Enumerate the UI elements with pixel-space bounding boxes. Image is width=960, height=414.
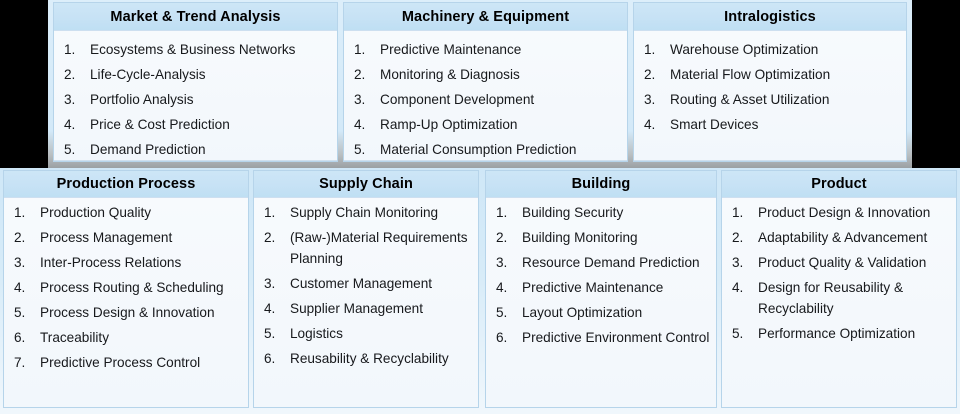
list-item-label: Ecosystems & Business Networks [90,37,333,62]
category-card-product[interactable]: Product 1.Product Design & Innovation 2.… [721,170,957,408]
category-card-machinery-equipment[interactable]: Machinery & Equipment 1.Predictive Maint… [343,2,628,162]
list-item-label: Production Quality [40,203,244,224]
list-item-label: Price & Cost Prediction [90,112,333,137]
category-item-list: 1.Supply Chain Monitoring 2.(Raw-)Materi… [258,203,474,374]
category-item-list: 1.Predictive Maintenance 2.Monitoring & … [348,37,623,162]
list-item-number: 3. [638,87,670,112]
list-item-number: 2. [258,228,290,249]
list-item-number: 1. [258,203,290,224]
diagram-canvas: Market & Trend Analysis 1.Ecosystems & B… [0,0,960,414]
list-item[interactable]: 5.Logistics [258,324,474,349]
list-item-label: Portfolio Analysis [90,87,333,112]
category-header: Supply Chain [254,171,478,198]
list-item-number: 2. [638,62,670,87]
category-header: Machinery & Equipment [344,3,627,31]
list-item-label: Process Routing & Scheduling [40,278,244,299]
list-item[interactable]: 3.Routing & Asset Utilization [638,87,902,112]
list-item[interactable]: 4.Smart Devices [638,112,902,137]
list-item-number: 4. [348,112,380,137]
list-item[interactable]: 4.Supplier Management [258,299,474,324]
list-item-number: 3. [348,87,380,112]
category-card-building[interactable]: Building 1.Building Security 2.Building … [485,170,717,408]
list-item[interactable]: 4.Price & Cost Prediction [58,112,333,137]
list-item-label: Reusability & Recyclability [290,349,474,370]
list-item-label: Adaptability & Advancement [758,228,952,249]
list-item-label: Supplier Management [290,299,474,320]
list-item-label: Process Management [40,228,244,249]
top-row-band: Market & Trend Analysis 1.Ecosystems & B… [48,0,912,168]
list-item-number: 2. [58,62,90,87]
list-item[interactable]: 2.(Raw-)Material Requirements Planning [258,228,474,274]
category-body: 1.Product Design & Innovation 2.Adaptabi… [722,198,956,407]
list-item-number: 1. [58,37,90,62]
list-item-label: Product Quality & Validation [758,253,952,274]
list-item-label: Layout Optimization [522,303,712,324]
list-item-label: Predictive Maintenance [522,278,712,299]
list-item-number: 5. [258,324,290,345]
list-item[interactable]: 3.Portfolio Analysis [58,87,333,112]
category-item-list: 1.Ecosystems & Business Networks 2.Life-… [58,37,333,162]
list-item-label: Resource Demand Prediction [522,253,712,274]
list-item-label: Ramp-Up Optimization [380,112,623,137]
list-item-label: Material Consumption Prediction [380,137,623,162]
list-item-label: Building Monitoring [522,228,712,249]
list-item-label: Process Design & Innovation [40,303,244,324]
list-item[interactable]: 1.Building Security [490,203,712,228]
list-item-label: Logistics [290,324,474,345]
category-item-list: 1.Warehouse Optimization 2.Material Flow… [638,37,902,137]
list-item[interactable]: 3.Resource Demand Prediction [490,253,712,278]
category-header: Intralogistics [634,3,906,31]
list-item-number: 3. [490,253,522,274]
list-item-label: Monitoring & Diagnosis [380,62,623,87]
list-item[interactable]: 1.Warehouse Optimization [638,37,902,62]
list-item[interactable]: 2.Life-Cycle-Analysis [58,62,333,87]
list-item-label: Product Design & Innovation [758,203,952,224]
list-item-number: 5. [58,137,90,162]
category-body: 1.Warehouse Optimization 2.Material Flow… [634,31,906,161]
category-header: Market & Trend Analysis [54,3,337,31]
list-item-number: 3. [726,253,758,274]
list-item[interactable]: 5.Demand Prediction [58,137,333,162]
category-card-production-process[interactable]: Production Process 1.Production Quality … [3,170,249,408]
list-item[interactable]: 4.Ramp-Up Optimization [348,112,623,137]
list-item-label: Inter-Process Relations [40,253,244,274]
list-item-number: 2. [490,228,522,249]
list-item[interactable]: 2.Monitoring & Diagnosis [348,62,623,87]
list-item[interactable]: 1.Supply Chain Monitoring [258,203,474,228]
category-item-list: 1.Production Quality 2.Process Managemen… [8,203,244,378]
list-item-number: 5. [726,324,758,345]
list-item-number: 6. [258,349,290,370]
list-item[interactable]: 2.Adaptability & Advancement [726,228,952,253]
list-item-number: 3. [258,274,290,295]
list-item-label: Warehouse Optimization [670,37,902,62]
list-item[interactable]: 4.Process Routing & Scheduling [8,278,244,303]
list-item[interactable]: 5.Process Design & Innovation [8,303,244,328]
list-item-number: 7. [8,353,40,374]
list-item-label: Component Development [380,87,623,112]
list-item[interactable]: 2.Process Management [8,228,244,253]
list-item[interactable]: 1.Ecosystems & Business Networks [58,37,333,62]
list-item-number: 5. [348,137,380,162]
list-item[interactable]: 2.Material Flow Optimization [638,62,902,87]
list-item-number: 6. [490,328,522,349]
category-header: Product [722,171,956,198]
list-item-label: (Raw-)Material Requirements Planning [290,228,474,269]
category-body: 1.Predictive Maintenance 2.Monitoring & … [344,31,627,162]
list-item[interactable]: 7.Predictive Process Control [8,353,244,378]
list-item[interactable]: 4.Predictive Maintenance [490,278,712,303]
category-body: 1.Building Security 2.Building Monitorin… [486,198,716,407]
list-item-number: 2. [348,62,380,87]
list-item-label: Customer Management [290,274,474,295]
list-item[interactable]: 4.Design for Reusability & Recyclability [726,278,952,324]
bottom-row-band: Production Process 1.Production Quality … [0,168,960,414]
list-item-number: 1. [8,203,40,224]
list-item[interactable]: 1.Predictive Maintenance [348,37,623,62]
category-header: Production Process [4,171,248,198]
list-item-number: 5. [8,303,40,324]
list-item-label: Predictive Maintenance [380,37,623,62]
list-item-number: 6. [8,328,40,349]
category-body: 1.Supply Chain Monitoring 2.(Raw-)Materi… [254,198,478,407]
category-body: 1.Production Quality 2.Process Managemen… [4,198,248,407]
list-item-label: Demand Prediction [90,137,333,162]
list-item-number: 4. [258,299,290,320]
list-item-label: Life-Cycle-Analysis [90,62,333,87]
list-item[interactable]: 3.Customer Management [258,274,474,299]
list-item-label: Design for Reusability & Recyclability [758,278,952,319]
list-item[interactable]: 5.Layout Optimization [490,303,712,328]
list-item-label: Supply Chain Monitoring [290,203,474,224]
list-item-number: 4. [638,112,670,137]
category-item-list: 1.Product Design & Innovation 2.Adaptabi… [726,203,952,349]
list-item[interactable]: 6.Predictive Environment Control [490,328,712,353]
list-item[interactable]: 5.Material Consumption Prediction [348,137,623,162]
list-item-label: Predictive Environment Control [522,328,712,349]
list-item-label: Building Security [522,203,712,224]
list-item-number: 1. [638,37,670,62]
list-item[interactable]: 6.Traceability [8,328,244,353]
list-item[interactable]: 1.Production Quality [8,203,244,228]
list-item-number: 4. [8,278,40,299]
list-item-number: 3. [58,87,90,112]
list-item-number: 3. [8,253,40,274]
list-item-number: 1. [348,37,380,62]
list-item[interactable]: 2.Building Monitoring [490,228,712,253]
list-item-label: Smart Devices [670,112,902,137]
list-item-label: Predictive Process Control [40,353,244,374]
list-item-label: Material Flow Optimization [670,62,902,87]
list-item-number: 4. [726,278,758,299]
category-header: Building [486,171,716,198]
list-item[interactable]: 3.Product Quality & Validation [726,253,952,278]
list-item-label: Traceability [40,328,244,349]
list-item-number: 4. [490,278,522,299]
list-item-number: 4. [58,112,90,137]
list-item[interactable]: 6.Reusability & Recyclability [258,349,474,374]
category-card-supply-chain[interactable]: Supply Chain 1.Supply Chain Monitoring 2… [253,170,479,408]
category-body: 1.Ecosystems & Business Networks 2.Life-… [54,31,337,162]
category-card-market-trend-analysis[interactable]: Market & Trend Analysis 1.Ecosystems & B… [53,2,338,162]
category-item-list: 1.Building Security 2.Building Monitorin… [490,203,712,353]
list-item-label: Routing & Asset Utilization [670,87,902,112]
list-item[interactable]: 3.Inter-Process Relations [8,253,244,278]
list-item-number: 2. [8,228,40,249]
list-item[interactable]: 3.Component Development [348,87,623,112]
list-item[interactable]: 5.Performance Optimization [726,324,952,349]
list-item-number: 5. [490,303,522,324]
list-item-number: 1. [726,203,758,224]
list-item-label: Performance Optimization [758,324,952,345]
list-item-number: 2. [726,228,758,249]
list-item[interactable]: 1.Product Design & Innovation [726,203,952,228]
category-card-intralogistics[interactable]: Intralogistics 1.Warehouse Optimization … [633,2,907,162]
list-item-number: 1. [490,203,522,224]
